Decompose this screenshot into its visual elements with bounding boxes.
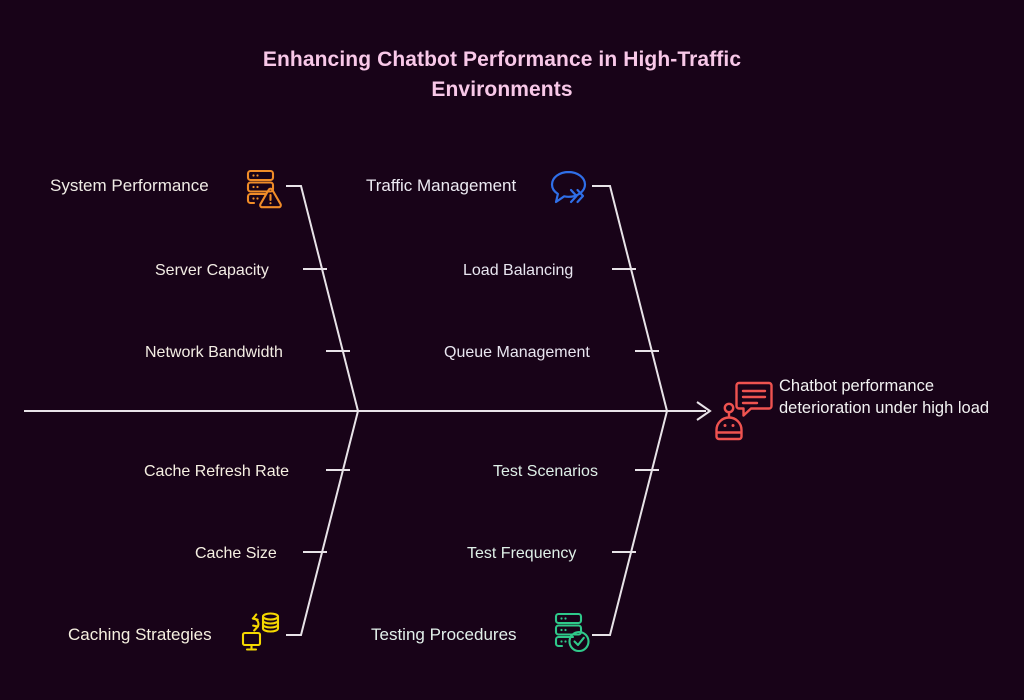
branch-caching-strategies — [286, 411, 358, 635]
chatbot-icon — [714, 380, 774, 447]
cause-label-server-capacity[interactable]: Server Capacity — [155, 261, 269, 280]
server-warning-icon — [241, 166, 287, 217]
database-monitor-sync-icon — [238, 609, 284, 660]
branch-testing-procedures — [592, 411, 667, 635]
cause-label-cache-size[interactable]: Cache Size — [195, 544, 277, 563]
cause-label-queue-management[interactable]: Queue Management — [444, 343, 590, 362]
branch-system-performance — [286, 186, 358, 411]
category-label-testing-procedures[interactable]: Testing Procedures — [371, 625, 517, 645]
category-label-caching-strategies[interactable]: Caching Strategies — [68, 625, 212, 645]
cause-label-test-scenarios[interactable]: Test Scenarios — [493, 462, 598, 481]
cause-label-cache-refresh-rate[interactable]: Cache Refresh Rate — [144, 462, 289, 481]
cause-label-load-balancing[interactable]: Load Balancing — [463, 261, 573, 280]
cause-label-network-bandwidth[interactable]: Network Bandwidth — [145, 343, 283, 362]
server-check-icon — [549, 610, 595, 661]
spine-group — [24, 402, 710, 420]
cause-label-test-frequency[interactable]: Test Frequency — [467, 544, 576, 563]
branch-traffic-management — [592, 186, 667, 411]
effect-label: Chatbot performance deterioration under … — [779, 375, 997, 419]
category-label-traffic-management[interactable]: Traffic Management — [366, 176, 516, 196]
fishbone-diagram-canvas: Enhancing Chatbot Performance in High-Tr… — [0, 0, 1024, 700]
speech-bubble-chevron-icon — [546, 166, 592, 217]
category-label-system-performance[interactable]: System Performance — [50, 176, 209, 196]
